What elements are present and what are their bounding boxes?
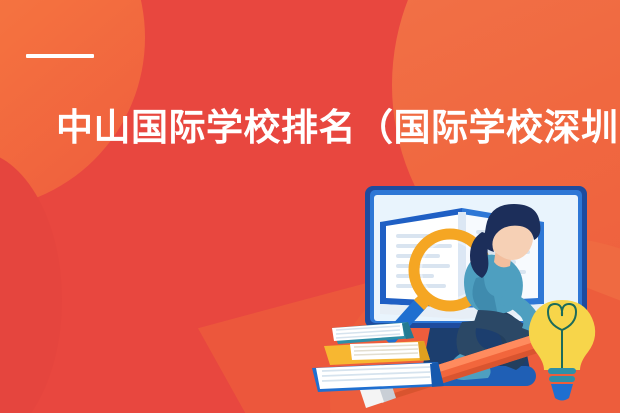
book-teal xyxy=(332,322,414,344)
lightbulb-icon xyxy=(529,300,595,401)
banner-canvas: 中山国际学校排名（国际学校深圳（ xyxy=(0,0,620,413)
banner-title: 中山国际学校排名（国际学校深圳（ xyxy=(56,103,620,153)
study-research-illustration xyxy=(310,186,620,413)
lightbulb-base xyxy=(548,368,576,401)
title-rule-decoration xyxy=(26,54,94,58)
books-stack xyxy=(312,322,444,392)
book-yellow xyxy=(324,341,430,365)
